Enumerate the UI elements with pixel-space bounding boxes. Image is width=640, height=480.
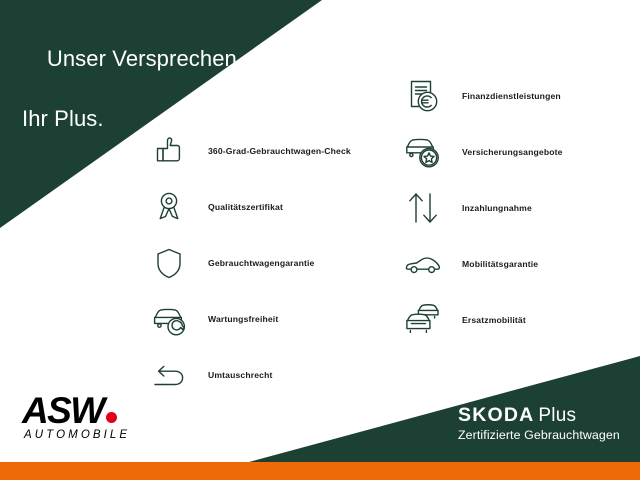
car-wrench-icon — [146, 296, 192, 342]
feature-label: Umtauschrecht — [208, 370, 273, 380]
feature-label: Wartungsfreiheit — [208, 314, 278, 324]
brand-logo-top: SKODAPlus — [458, 404, 620, 427]
dealer-logo-dot — [106, 412, 117, 423]
up-down-arrows-icon — [400, 185, 446, 231]
thumbs-up-icon — [146, 128, 192, 174]
feature-label: Inzahlungnahme — [462, 203, 532, 213]
feature-item: Versicherungsangebote — [400, 126, 563, 178]
dealer-logo-wordmark: ASW — [22, 392, 172, 430]
brand-logo-subtitle: Zertifizierte Gebrauchtwagen — [458, 428, 620, 443]
promo-banner: Unser Versprechen. Ihr Plus. 360-Grad-Ge… — [0, 0, 640, 480]
document-euro-icon — [400, 73, 446, 119]
award-rosette-icon — [146, 184, 192, 230]
shield-icon — [146, 240, 192, 286]
feature-column-right: Finanzdienstleistungen Versicherungsange… — [400, 70, 563, 350]
feature-item: Mobilitätsgarantie — [400, 238, 563, 290]
feature-item: Gebrauchtwagengarantie — [146, 237, 351, 289]
brand-logo-plus: Plus — [538, 405, 576, 426]
brand-logo: SKODAPlus Zertifizierte Gebrauchtwagen — [458, 404, 620, 443]
dealer-logo-name: ASW — [22, 390, 104, 431]
headline-line-1: Unser Versprechen. — [47, 46, 243, 71]
feature-item: Inzahlungnahme — [400, 182, 563, 234]
feature-label: Gebrauchtwagengarantie — [208, 258, 314, 268]
feature-item: Finanzdienstleistungen — [400, 70, 563, 122]
orange-footer-bar — [0, 462, 640, 480]
feature-label: Ersatzmobilität — [462, 315, 526, 325]
car-side-icon — [400, 241, 446, 287]
two-cars-icon — [400, 297, 446, 343]
feature-item: 360-Grad-Gebrauchtwagen-Check — [146, 125, 351, 177]
feature-label: 360-Grad-Gebrauchtwagen-Check — [208, 146, 351, 156]
dealer-logo: ASW AUTOMOBILE — [22, 392, 172, 441]
feature-label: Mobilitätsgarantie — [462, 259, 538, 269]
feature-item: Qualitätszertifikat — [146, 181, 351, 233]
feature-label: Versicherungsangebote — [462, 147, 563, 157]
feature-label: Qualitätszertifikat — [208, 202, 283, 212]
car-star-icon — [400, 129, 446, 175]
brand-logo-mark: SKODA — [458, 404, 534, 426]
feature-item: Umtauschrecht — [146, 349, 351, 401]
feature-item: Ersatzmobilität — [400, 294, 563, 346]
feature-item: Wartungsfreiheit — [146, 293, 351, 345]
feature-label: Finanzdienstleistungen — [462, 91, 561, 101]
feature-column-left: 360-Grad-Gebrauchtwagen-Check Qualitätsz… — [146, 125, 351, 405]
